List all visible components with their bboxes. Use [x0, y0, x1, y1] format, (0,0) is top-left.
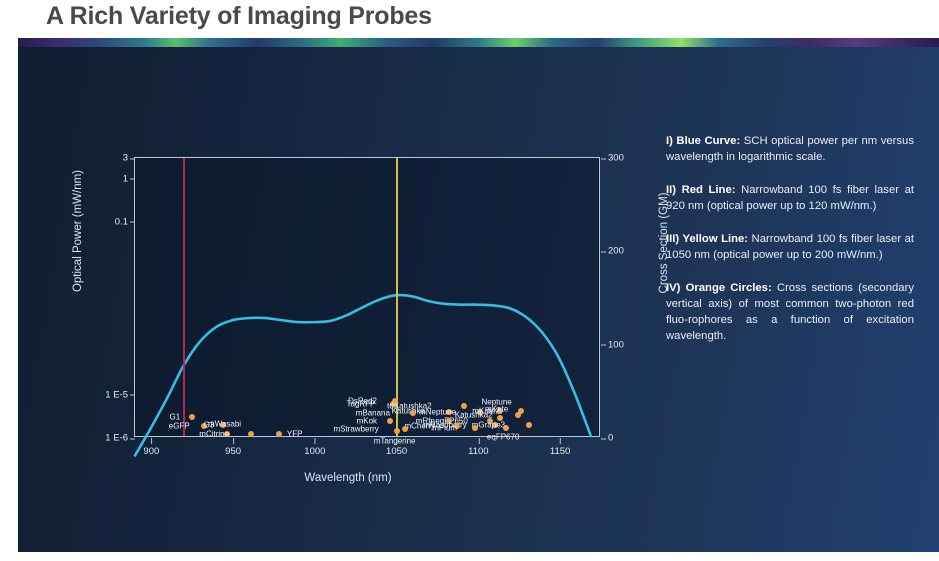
chart-figure: Optical Power (mW/nm) Cross Section (GM)…: [18, 47, 658, 552]
y-axis-tick: 1 E-6: [105, 433, 128, 444]
fluorophore-label: mWasabi: [208, 420, 241, 429]
fluorophore-marker: [515, 412, 521, 418]
x-axis-title: Wavelength (nm): [228, 472, 468, 484]
y-axis-title: Optical Power (mW/nm): [72, 131, 84, 331]
secondary-y-axis-tick: 0: [608, 433, 613, 444]
x-axis-tick: 950: [225, 446, 241, 457]
note-item: IV) Orange Circles: Cross sections (seco…: [666, 280, 914, 344]
fluorophore-label: mPlum: [432, 423, 457, 432]
fluorophore-marker: [472, 425, 478, 431]
fluorophore-label: mCitrine: [199, 430, 229, 439]
fluorophore-label: mStrawberry: [333, 424, 378, 433]
fluorophore-marker: [503, 425, 509, 431]
y-axis-tick: 3: [123, 153, 128, 164]
note-lead: I) Blue Curve:: [666, 135, 740, 147]
fluorophore-label: mCherry: [404, 421, 435, 430]
fluorophore-label: eGFP: [169, 421, 190, 430]
fluorophore-label: mNeptune: [419, 407, 456, 416]
fluorophore-label: eqFP670: [487, 432, 519, 441]
fluorophore-marker: [387, 418, 393, 424]
plot-area: 310.11 E-51 E-60100200300900950100010501…: [134, 157, 600, 437]
fluorophore-marker: [276, 431, 282, 437]
fluorophore-marker: [248, 431, 254, 437]
note-lead: II) Red Line:: [666, 184, 736, 196]
secondary-y-axis-tick: 200: [608, 246, 624, 257]
vertical-marker-line-920: [183, 158, 185, 436]
x-axis-tick: 900: [143, 446, 159, 457]
note-item: II) Red Line: Narrowband 100 fs fiber la…: [666, 182, 914, 214]
note-lead: III) Yellow Line:: [666, 233, 748, 245]
page-title: A Rich Variety of Imaging Probes: [46, 2, 432, 31]
fluorophore-marker: [189, 414, 195, 420]
x-axis-tick: 1150: [550, 446, 570, 457]
note-item: III) Yellow Line: Narrowband 100 fs fibe…: [666, 231, 914, 263]
y-axis-tick: 1 E-5: [105, 389, 128, 400]
fluorophore-marker: [461, 403, 467, 409]
fluorophore-label: mTangerine: [374, 437, 416, 446]
slide-header: A Rich Variety of Imaging Probes: [0, 0, 939, 37]
optical-power-curve: [135, 158, 599, 436]
y-axis-tick: 1: [123, 173, 128, 184]
slide-body: Optical Power (mW/nm) Cross Section (GM)…: [18, 47, 939, 552]
fluorophore-marker: [410, 410, 416, 416]
fluorophore-marker: [526, 422, 532, 428]
note-lead: IV) Orange Circles:: [666, 282, 772, 294]
decorative-accent-strip: [18, 38, 939, 47]
legend-notes-panel: I) Blue Curve: SCH optical power per nm …: [666, 133, 914, 361]
fluorophore-marker: [394, 428, 400, 434]
x-axis-tick: 1100: [468, 446, 488, 457]
x-axis-tick: 1050: [386, 446, 407, 457]
fluorophore-marker: [402, 426, 408, 432]
note-item: I) Blue Curve: SCH optical power per nm …: [666, 133, 914, 165]
vertical-marker-line-1050: [396, 158, 398, 436]
y-axis-tick: 0.1: [115, 216, 128, 227]
x-axis-tick: 1000: [304, 446, 325, 457]
fluorophore-label: mKate: [485, 405, 508, 414]
fluorophore-label: YFP: [287, 430, 303, 439]
secondary-y-axis-tick: 300: [608, 153, 624, 164]
secondary-y-axis-tick: 100: [608, 339, 624, 350]
slide-page: A Rich Variety of Imaging Probes Optical…: [0, 0, 939, 561]
